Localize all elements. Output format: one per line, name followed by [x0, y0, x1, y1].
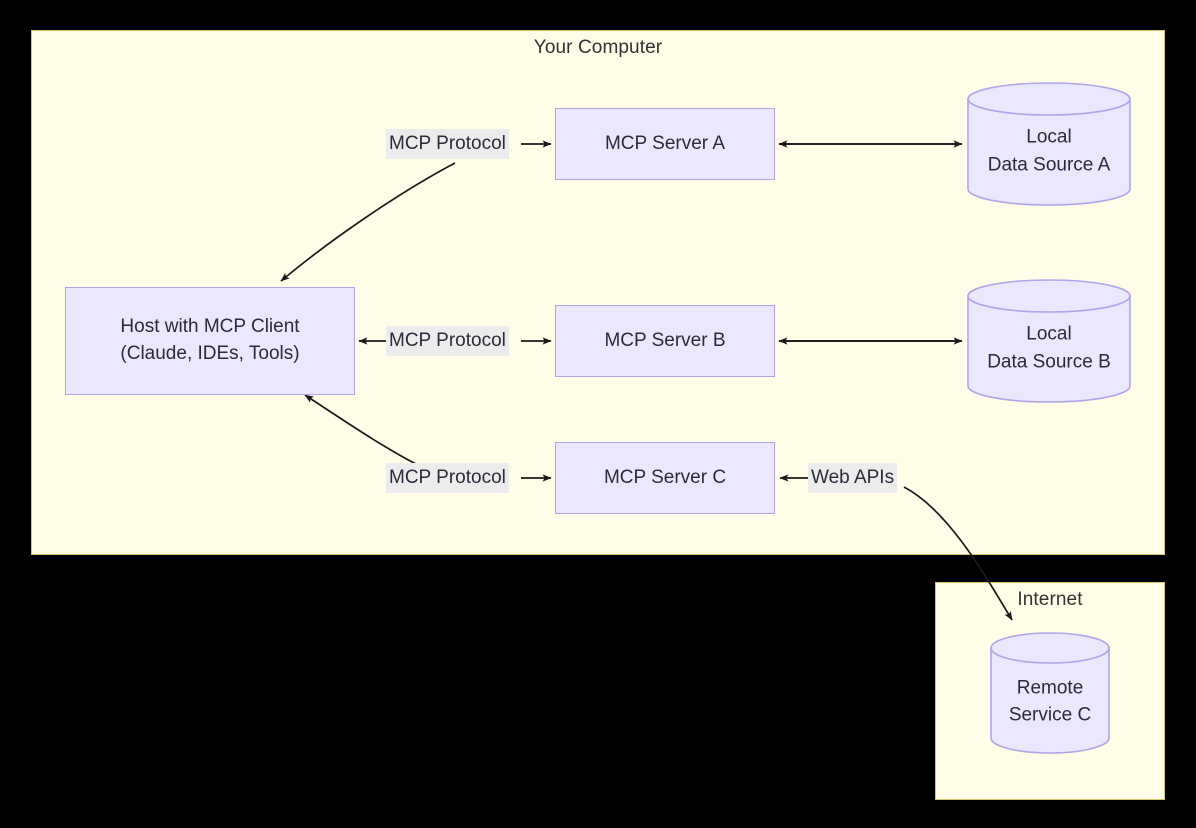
edge-label-web-apis: Web APIs	[808, 463, 897, 493]
node-host-line-2: (Claude, IDEs, Tools)	[120, 341, 299, 368]
cylinder-shape-a	[967, 82, 1131, 206]
node-host-with-mcp-client[interactable]: Host with MCP Client (Claude, IDEs, Tool…	[65, 287, 355, 395]
node-local-data-source-b[interactable]: Local Data Source B	[967, 279, 1131, 403]
node-mcp-server-c[interactable]: MCP Server C	[555, 442, 775, 514]
node-local-data-source-a[interactable]: Local Data Source A	[967, 82, 1131, 206]
node-remote-service-c[interactable]: Remote Service C	[990, 632, 1110, 754]
cylinder-shape-remote	[990, 632, 1110, 754]
node-mcp-server-c-label: MCP Server C	[604, 465, 726, 492]
node-mcp-server-b[interactable]: MCP Server B	[555, 305, 775, 377]
cylinder-shape-b	[967, 279, 1131, 403]
node-mcp-server-a[interactable]: MCP Server A	[555, 108, 775, 180]
edge-label-mcp-protocol-c: MCP Protocol	[386, 463, 509, 493]
edge-label-mcp-protocol-b: MCP Protocol	[386, 326, 509, 356]
container-title-your-computer: Your Computer	[32, 37, 1164, 59]
node-mcp-server-a-label: MCP Server A	[605, 131, 725, 158]
container-title-internet: Internet	[936, 589, 1164, 611]
diagram-canvas: Your Computer Internet Host wi	[0, 0, 1196, 828]
edge-label-mcp-protocol-a: MCP Protocol	[386, 129, 509, 159]
node-mcp-server-b-label: MCP Server B	[604, 328, 725, 355]
node-host-line-1: Host with MCP Client	[120, 314, 299, 341]
